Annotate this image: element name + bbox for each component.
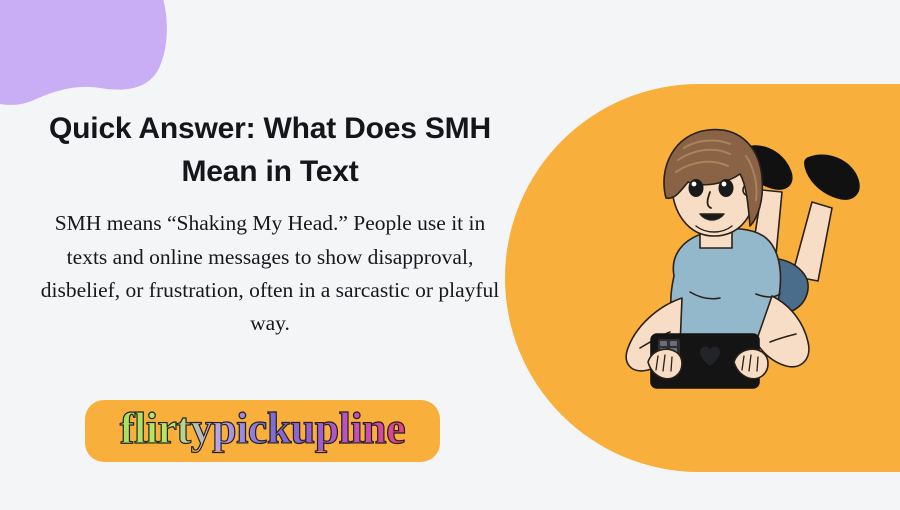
infographic-canvas: Quick Answer: What Does SMH Mean in Text… — [0, 0, 900, 510]
brand-wordmark: flirtypickupline — [120, 407, 405, 451]
page-title: Quick Answer: What Does SMH Mean in Text — [22, 108, 518, 193]
text-column: Quick Answer: What Does SMH Mean in Text… — [22, 108, 518, 340]
brand-logo-badge[interactable]: flirtypickupline — [85, 400, 440, 462]
purple-blob-icon — [0, 0, 180, 115]
person-lying-with-tablet-illustration — [596, 126, 888, 418]
body-paragraph: SMH means “Shaking My Head.” People use … — [22, 207, 518, 340]
